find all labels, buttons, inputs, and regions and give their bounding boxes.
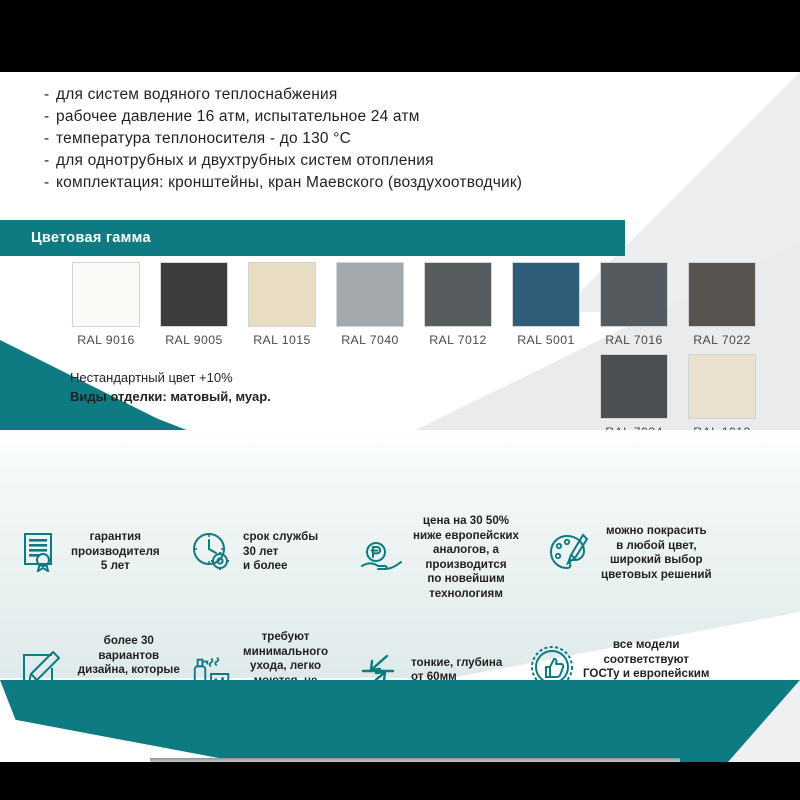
color-gamut-header: Цветовая гамма xyxy=(0,220,625,256)
color-swatch[interactable]: RAL 7022 xyxy=(688,262,756,347)
bullet-dash-icon: - xyxy=(44,84,56,106)
feature-item: гарантия производителя 5 лет xyxy=(18,530,188,574)
hand-ruble-icon xyxy=(360,536,404,580)
color-swatch[interactable]: RAL 9016 xyxy=(72,262,140,347)
color-swatch-chip xyxy=(600,262,668,327)
color-swatch-chip xyxy=(336,262,404,327)
color-swatch[interactable]: RAL 7012 xyxy=(424,262,492,347)
finish-notes: Нестандартный цвет +10% Виды отделки: ма… xyxy=(70,368,271,406)
feature-item: срок службы 30 лет и более xyxy=(190,530,350,574)
color-swatch-label: RAL 5001 xyxy=(512,333,580,347)
color-swatch-label: RAL 7040 xyxy=(336,333,404,347)
feature-label: гарантия производителя 5 лет xyxy=(71,530,160,574)
slide-canvas: -для систем водяного теплоснабжения -раб… xyxy=(0,72,800,762)
color-swatch[interactable]: RAL 5001 xyxy=(512,262,580,347)
color-swatch[interactable]: RAL 7040 xyxy=(336,262,404,347)
feature-item: можно покрасить в любой цвет, широкий вы… xyxy=(548,524,748,582)
slide-stage: -для систем водяного теплоснабжения -раб… xyxy=(0,0,800,800)
footer-shadow xyxy=(150,758,680,762)
color-swatch-label: RAL 1015 xyxy=(248,333,316,347)
spec-item-label: для однотрубных и двухтрубных систем ото… xyxy=(56,152,434,169)
color-swatch[interactable]: RAL 7024 xyxy=(600,354,668,439)
color-swatch[interactable]: RAL 1015 xyxy=(248,262,316,347)
palette-icon xyxy=(548,531,592,575)
color-swatch-chip xyxy=(600,354,668,419)
color-swatch-chip xyxy=(160,262,228,327)
color-swatch-label: RAL 9005 xyxy=(160,333,228,347)
color-swatch-label: RAL 9016 xyxy=(72,333,140,347)
note-finish-types: Виды отделки: матовый, муар. xyxy=(70,387,271,406)
note-nonstandard-color: Нестандартный цвет +10% xyxy=(70,368,271,387)
bullet-dash-icon: - xyxy=(44,150,56,172)
feature-label: срок службы 30 лет и более xyxy=(243,530,318,574)
feature-item: цена на 30 50% ниже европейских аналогов… xyxy=(360,514,560,601)
color-swatch-chip xyxy=(424,262,492,327)
bullet-dash-icon: - xyxy=(44,128,56,150)
color-swatch[interactable]: RAL 7016 xyxy=(600,262,668,347)
feature-label: можно покрасить в любой цвет, широкий вы… xyxy=(601,524,712,582)
color-swatch[interactable]: RAL 1013 xyxy=(688,354,756,439)
spec-item: -для однотрубных и двухтрубных систем от… xyxy=(44,150,664,172)
spec-item: -температура теплоносителя - до 130 °C xyxy=(44,128,664,150)
spec-item-label: температура теплоносителя - до 130 °C xyxy=(56,130,351,147)
feature-label: цена на 30 50% ниже европейских аналогов… xyxy=(413,514,519,601)
spec-item: -рабочее давление 16 атм, испытательное … xyxy=(44,106,664,128)
color-swatch-label: RAL 7012 xyxy=(424,333,492,347)
color-swatch-label: RAL 7022 xyxy=(688,333,756,347)
bullet-dash-icon: - xyxy=(44,172,56,194)
color-swatch-label: RAL 7016 xyxy=(600,333,668,347)
color-swatch-chip xyxy=(688,354,756,419)
color-swatch-chip xyxy=(512,262,580,327)
spec-item-label: рабочее давление 16 атм, испытательное 2… xyxy=(56,108,420,125)
spec-item: -для систем водяного теплоснабжения xyxy=(44,84,664,106)
color-gamut-title: Цветовая гамма xyxy=(31,230,151,246)
bullet-dash-icon: - xyxy=(44,106,56,128)
color-swatch[interactable]: RAL 9005 xyxy=(160,262,228,347)
color-swatch-chip xyxy=(688,262,756,327)
color-swatch-chip xyxy=(72,262,140,327)
spec-item: -комплектация: кронштейны, кран Маевског… xyxy=(44,172,664,194)
spec-item-label: комплектация: кронштейны, кран Маевского… xyxy=(56,174,522,191)
color-swatch-chip xyxy=(248,262,316,327)
clock-gear-icon xyxy=(190,530,234,574)
certificate-icon xyxy=(18,530,62,574)
spec-list: -для систем водяного теплоснабжения -раб… xyxy=(44,84,664,194)
spec-item-label: для систем водяного теплоснабжения xyxy=(56,86,337,103)
color-swatch-row-primary: RAL 9016RAL 9005RAL 1015RAL 7040RAL 7012… xyxy=(0,262,800,352)
